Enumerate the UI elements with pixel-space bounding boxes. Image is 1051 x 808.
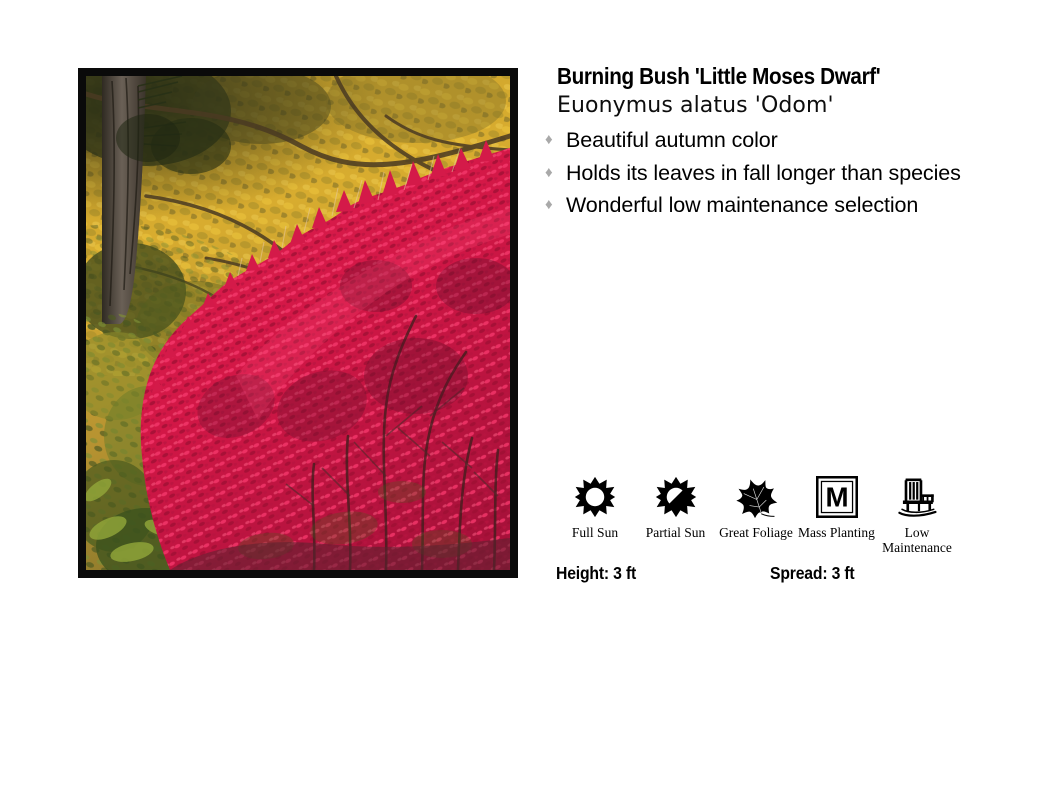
attribute-label: Great Foliage <box>719 525 793 540</box>
attribute-low-maintenance: Low Maintenance <box>878 472 956 555</box>
partial-sun-icon-svg <box>655 476 697 518</box>
plant-attribute-row: Full Sun Partial Sun <box>556 472 956 555</box>
partial-sun-icon <box>655 472 697 522</box>
diamond-bullet-icon: ♦ <box>545 157 553 190</box>
diamond-bullet-icon: ♦ <box>545 189 553 222</box>
plant-botanical-name: Euonymus alatus 'Odom' <box>557 91 1010 120</box>
attribute-mass-planting: M Mass Planting <box>798 472 876 540</box>
attribute-label: Partial Sun <box>646 525 706 540</box>
plant-common-name: Burning Bush 'Little Moses Dwarf' <box>557 62 956 91</box>
feature-text: Wonderful low maintenance selection <box>566 193 918 217</box>
full-sun-icon <box>574 472 616 522</box>
list-item: ♦ Wonderful low maintenance selection <box>540 189 1010 222</box>
mass-planting-icon-svg: M <box>816 476 858 518</box>
plant-photo <box>86 76 510 570</box>
full-sun-icon-svg <box>574 476 616 518</box>
feature-text: Holds its leaves in fall longer than spe… <box>566 161 961 185</box>
feature-text: Beautiful autumn color <box>566 128 778 152</box>
leaf-icon-svg <box>733 475 779 519</box>
list-item: ♦ Beautiful autumn color <box>540 124 1010 157</box>
svg-text:M: M <box>825 482 848 513</box>
attribute-label: Mass Planting <box>798 525 875 540</box>
rocking-chair-icon-svg <box>894 475 940 519</box>
low-maintenance-rocking-chair-icon <box>894 472 940 522</box>
diamond-bullet-icon: ♦ <box>545 124 553 157</box>
attribute-full-sun: Full Sun <box>556 472 634 540</box>
plant-spread-label: Spread: 3 ft <box>770 562 854 584</box>
attribute-label: Low Maintenance <box>878 525 956 555</box>
list-item: ♦ Holds its leaves in fall longer than s… <box>540 157 1010 190</box>
great-foliage-leaf-icon <box>733 472 779 522</box>
mass-planting-m-icon: M <box>816 472 858 522</box>
attribute-label: Full Sun <box>572 525 618 540</box>
plant-feature-list: ♦ Beautiful autumn color ♦ Holds its lea… <box>540 124 1010 222</box>
plant-height-label: Height: 3 ft <box>556 562 636 584</box>
plant-photo-frame <box>78 68 518 578</box>
plant-info-panel: Burning Bush 'Little Moses Dwarf' Euonym… <box>540 62 1010 222</box>
attribute-partial-sun: Partial Sun <box>637 472 715 540</box>
plant-photo-illustration <box>86 76 510 570</box>
attribute-great-foliage: Great Foliage <box>717 472 795 540</box>
